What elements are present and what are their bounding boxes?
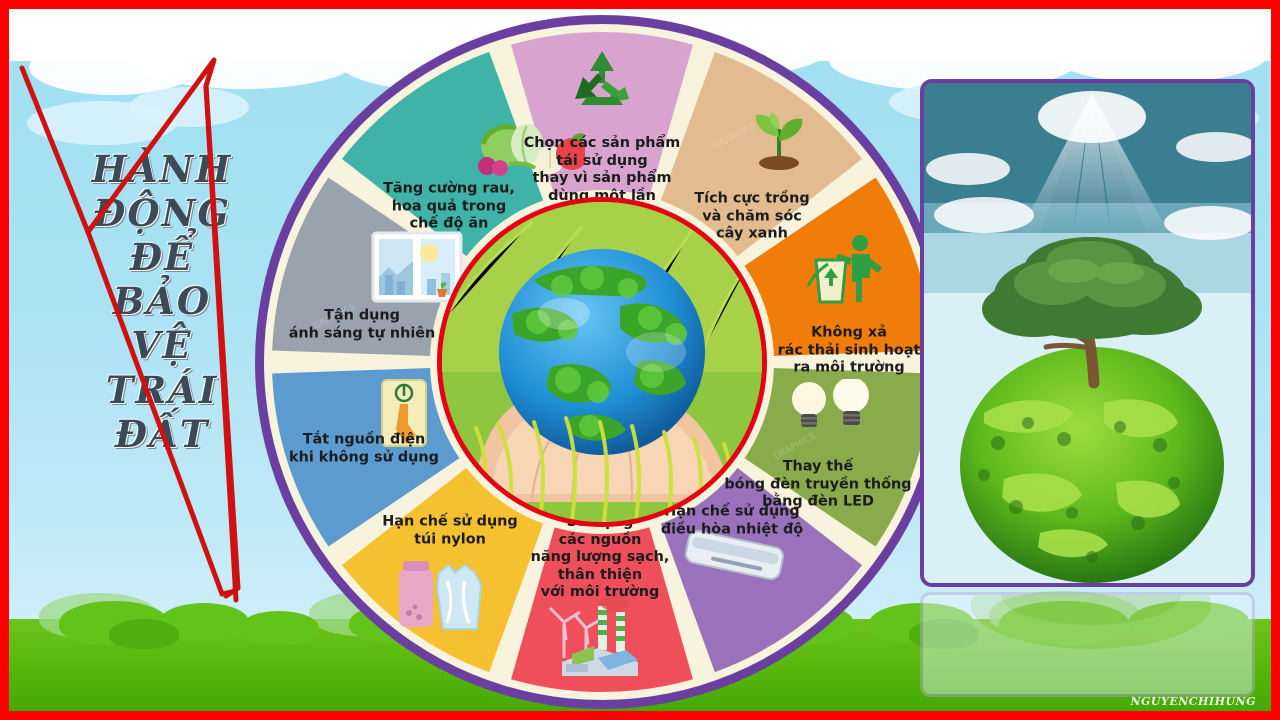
tree-earth-photo-panel [920,79,1255,587]
title-line: ĐỘNG [62,194,262,232]
hands-holding-earth-illustration [442,202,762,522]
title-line: ĐỂ [62,238,262,276]
reflection-illustration [923,595,1253,695]
poster-title: HÀNH ĐỘNG ĐỂ BẢO VỆ TRÁI ĐẤT [62,150,262,459]
center-earth-photo [437,197,767,527]
title-line: HÀNH [62,150,262,188]
title-line: BẢO [62,282,262,320]
action-wheel: Chọn các sản phẩmtái sử dụngthay vì sản … [252,12,952,712]
panel-reflection [920,592,1255,697]
title-line: VỆ [62,326,262,364]
bush-icon [109,619,179,649]
title-line: TRÁI [62,371,262,409]
author-watermark: NGUYENCHIHUNG [1130,695,1256,708]
cloud-icon [1049,23,1269,83]
poster-root: HÀNH ĐỘNG ĐỂ BẢO VỆ TRÁI ĐẤT [0,0,1280,720]
cloud-icon [129,87,249,127]
tree-on-earth-illustration [924,83,1254,585]
title-line: ĐẤT [62,415,262,453]
